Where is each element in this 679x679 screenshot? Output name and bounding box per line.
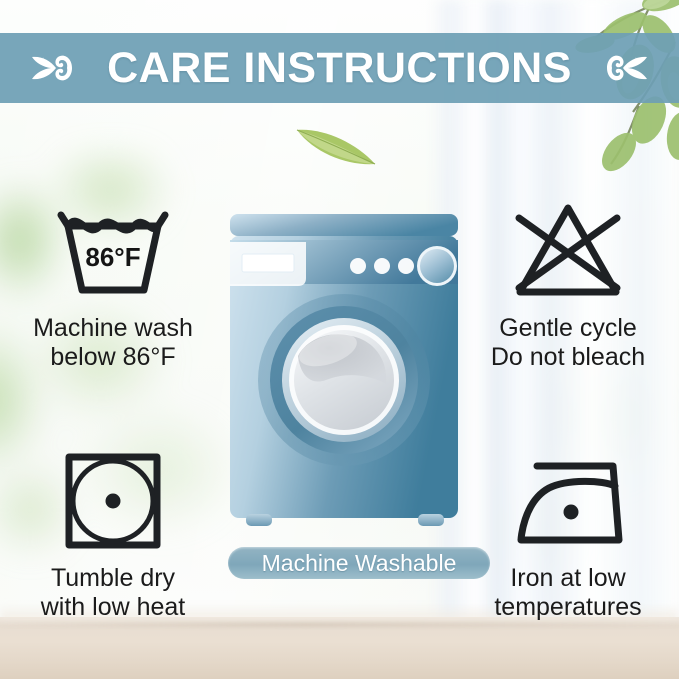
fleur-de-lis-left-icon [23, 46, 81, 90]
tumble-dry-low-heat-icon [38, 446, 188, 558]
care-symbol-caption: Machine wash below 86°F [8, 314, 218, 371]
background-table-surface [0, 617, 679, 679]
washing-machine-illustration [228, 214, 460, 532]
machine-foot [418, 514, 444, 526]
indicator-light [374, 258, 390, 274]
iron-glyph [463, 446, 673, 558]
indicator-light [350, 258, 366, 274]
control-knob [420, 249, 454, 283]
machine-wash-glyph: 86°F [8, 196, 218, 308]
care-symbol-caption: Iron at low temperatures [463, 564, 673, 621]
low-temperature-dot [564, 505, 579, 520]
fleur-de-lis-right-icon [598, 46, 656, 90]
care-symbol-gentle-cycle-no-bleach: Gentle cycle Do not bleach [463, 196, 673, 371]
wash-temperature-value: 86°F [38, 242, 188, 273]
care-symbol-iron-low: Iron at low temperatures [463, 446, 673, 621]
machine-top-cap [230, 214, 458, 236]
iron-low-temperature-icon [493, 446, 643, 558]
low-heat-dot [106, 494, 121, 509]
machine-foot [246, 514, 272, 526]
no-bleach-glyph [463, 196, 673, 308]
care-symbol-caption: Tumble dry with low heat [8, 564, 218, 621]
floating-leaf-icon [293, 122, 379, 170]
header-banner: CARE INSTRUCTIONS [0, 33, 679, 103]
indicator-light [398, 258, 414, 274]
detergent-drawer-slot [242, 254, 294, 272]
triangle-crossed-no-bleach-icon [493, 196, 643, 308]
care-symbol-caption: Gentle cycle Do not bleach [463, 314, 673, 371]
care-symbol-tumble-dry: Tumble dry with low heat [8, 446, 218, 621]
page-title: CARE INSTRUCTIONS [107, 47, 572, 90]
badge-label: Machine Washable [262, 552, 457, 575]
care-instructions-graphic: CARE INSTRUCTIONS 86°F M [0, 0, 679, 679]
tumble-dry-glyph [8, 446, 218, 558]
machine-washable-badge: Machine Washable [228, 547, 490, 579]
care-symbol-machine-wash: 86°F Machine wash below 86°F [8, 196, 218, 371]
